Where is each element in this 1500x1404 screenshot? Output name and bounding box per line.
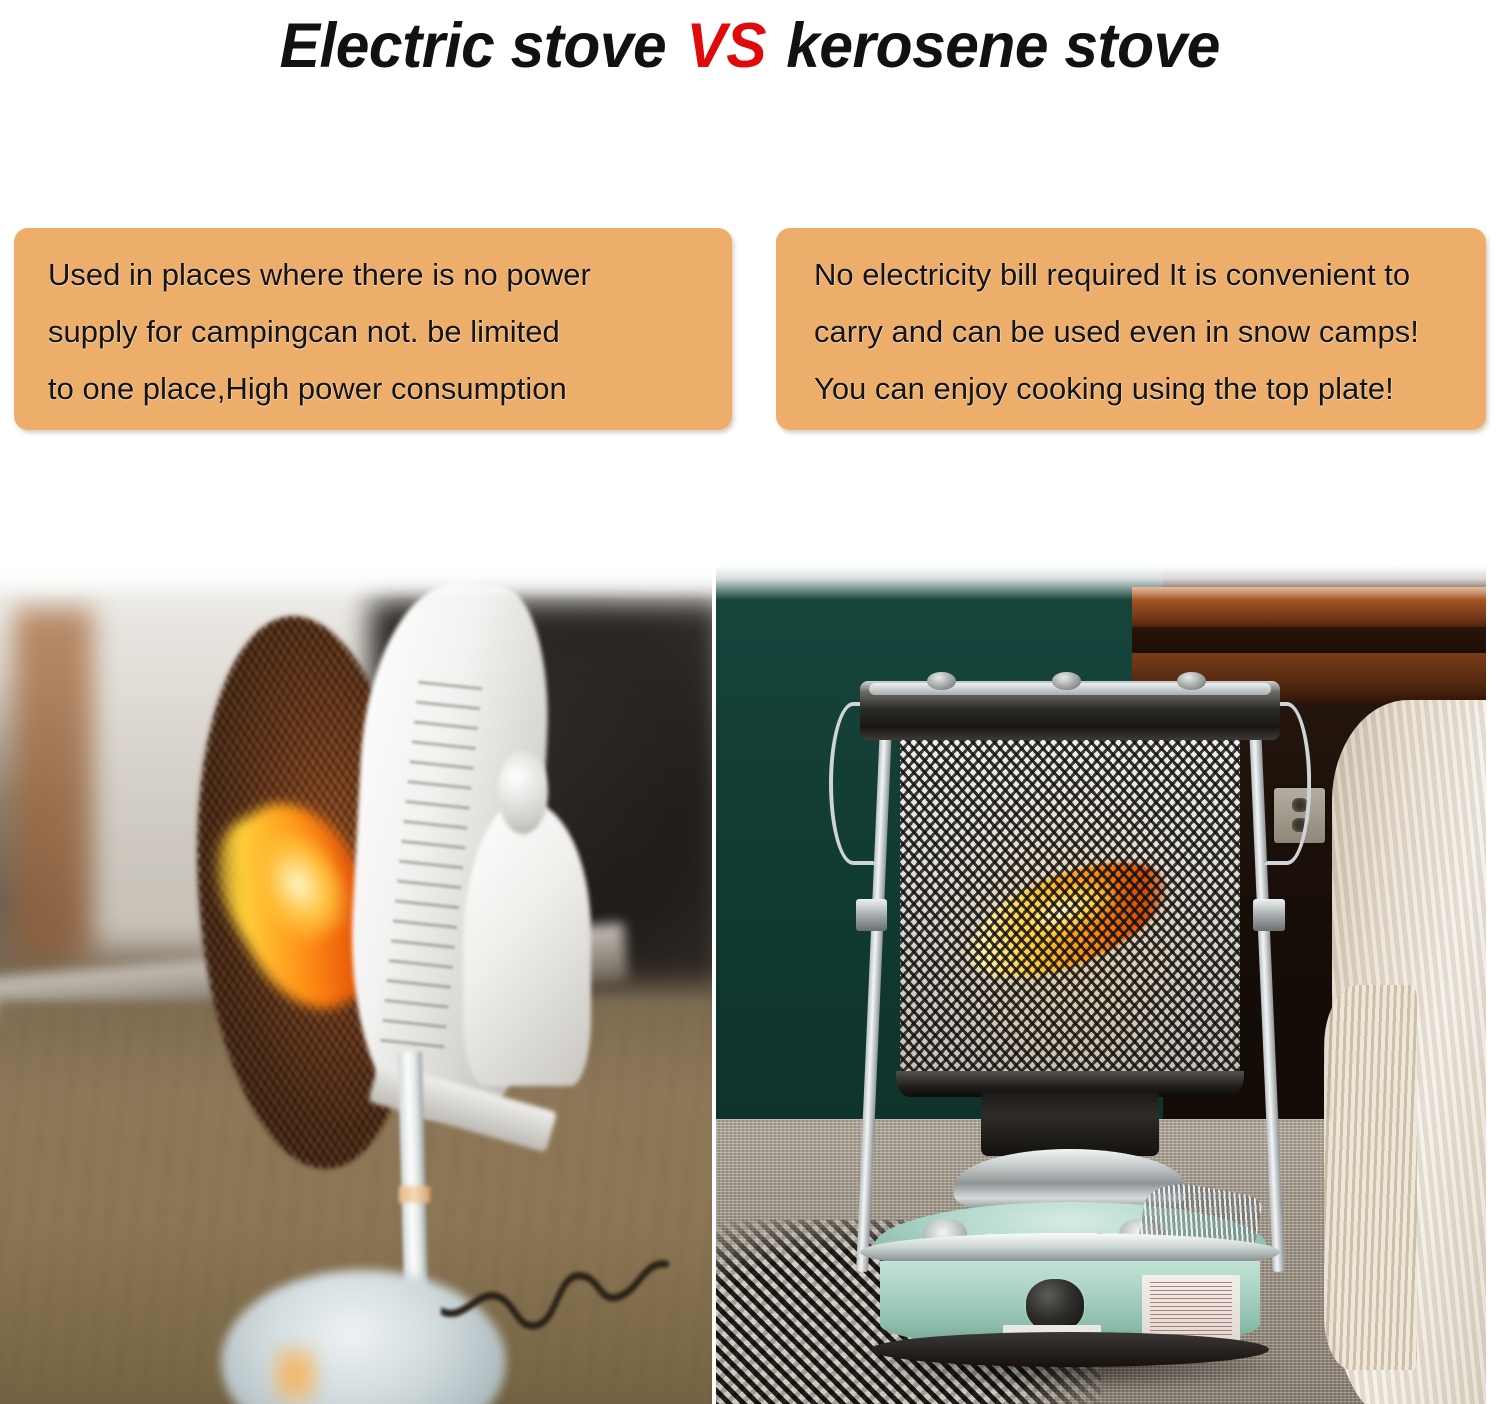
warning-label bbox=[1142, 1275, 1240, 1342]
control-knob[interactable] bbox=[1026, 1279, 1084, 1332]
wooden-cabinet-shadow bbox=[1132, 627, 1486, 655]
callout-left-line-3: to one place,High power consumption bbox=[48, 360, 708, 417]
title-vs: VS bbox=[683, 11, 770, 81]
electric-heater-photo bbox=[0, 566, 712, 1404]
fuel-tank-foot-ring bbox=[871, 1332, 1268, 1367]
heater-tilt-knob bbox=[498, 750, 548, 834]
heater-pole-band bbox=[399, 1186, 430, 1203]
stove-latch-right[interactable] bbox=[1253, 899, 1284, 931]
title-part-two: kerosene stove bbox=[770, 11, 1220, 81]
heater-side-housing bbox=[463, 801, 591, 1086]
burner-mesh-grid bbox=[900, 737, 1239, 1082]
warning-label-text-lines bbox=[1150, 1282, 1233, 1336]
kerosene-stove bbox=[847, 667, 1294, 1371]
burner-mesh-cage bbox=[900, 737, 1239, 1082]
callout-right-line-2: carry and can be used even in snow camps… bbox=[810, 303, 1462, 360]
title-bar: Electric stove VS kerosene stove bbox=[0, 0, 1500, 92]
burner-collar bbox=[981, 1092, 1160, 1155]
blurred-furniture-post bbox=[14, 608, 92, 960]
power-cord bbox=[441, 1220, 683, 1337]
callout-right-line-1: No electricity bill required It is conve… bbox=[810, 246, 1462, 303]
heater-base-indicator bbox=[271, 1345, 321, 1404]
callout-right-line-3: You can enjoy cooking using the top plat… bbox=[810, 360, 1462, 417]
kerosene-stove-photo bbox=[716, 566, 1486, 1404]
callout-left-line-2: supply for campingcan not. be limited bbox=[48, 303, 708, 360]
title-part-one: Electric stove bbox=[280, 11, 683, 81]
page-title: Electric stove VS kerosene stove bbox=[280, 10, 1220, 82]
callout-kerosene-stove: No electricity bill required It is conve… bbox=[776, 228, 1486, 430]
callout-electric-stove: Used in places where there is no power s… bbox=[14, 228, 732, 430]
stove-latch-left[interactable] bbox=[856, 899, 887, 931]
callout-left-line-1: Used in places where there is no power bbox=[48, 246, 708, 303]
wooden-cabinet-top bbox=[1132, 587, 1486, 631]
blanket-fringe bbox=[1324, 985, 1416, 1370]
photo-comparison-strip bbox=[0, 566, 1500, 1404]
